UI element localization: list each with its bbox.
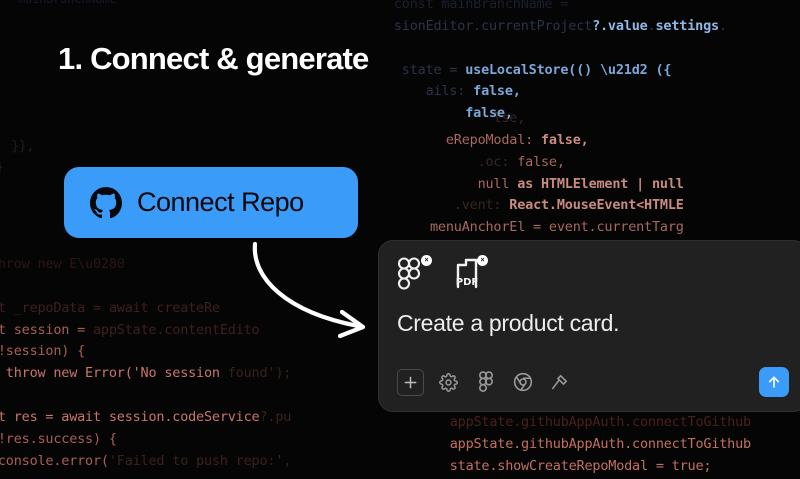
background-code-mid-left: }}, } (0, 136, 34, 178)
attachment-chip-pdf[interactable]: PDF × (453, 257, 487, 289)
connect-repo-label: Connect Repo (137, 187, 304, 218)
screenshot-root: mainBranchName const mainBranchName = si… (0, 0, 800, 479)
prompt-input[interactable]: Create a product card. (397, 311, 789, 336)
background-code-bottom-right: appState.githubAppAuth.connectToGithub a… (418, 412, 751, 479)
tools-button[interactable] (547, 370, 572, 395)
settings-button[interactable] (436, 370, 461, 395)
background-code-top-left: mainBranchName (18, 0, 116, 9)
svg-text:PDF: PDF (456, 277, 478, 288)
curved-arrow (230, 230, 390, 350)
arrow-up-icon (766, 374, 782, 390)
page-title: 1. Connect & generate (58, 41, 369, 77)
send-button[interactable] (759, 367, 789, 397)
attachment-chip-figma[interactable]: × (397, 257, 431, 289)
github-icon (90, 187, 122, 219)
chrome-integration-button[interactable] (510, 370, 535, 395)
remove-attachment-icon[interactable]: × (421, 255, 432, 266)
remove-attachment-icon[interactable]: × (477, 255, 488, 266)
chat-composer-panel: × PDF × Create a product card. (378, 240, 800, 412)
composer-toolbar (397, 367, 789, 397)
attachment-chip-list: × PDF × (397, 257, 789, 293)
add-attachment-button[interactable] (397, 369, 424, 396)
background-code-top-right: const mainBranchName = sionEditor.curren… (378, 0, 727, 125)
background-code-mid-right: lse, eRepoModal: false, .oc: false, null… (430, 108, 684, 239)
connect-repo-button[interactable]: Connect Repo (64, 167, 358, 238)
background-code-bottom-left: throw new E\u0280 nst _repoData = await … (0, 254, 291, 473)
figma-integration-button[interactable] (473, 370, 498, 395)
